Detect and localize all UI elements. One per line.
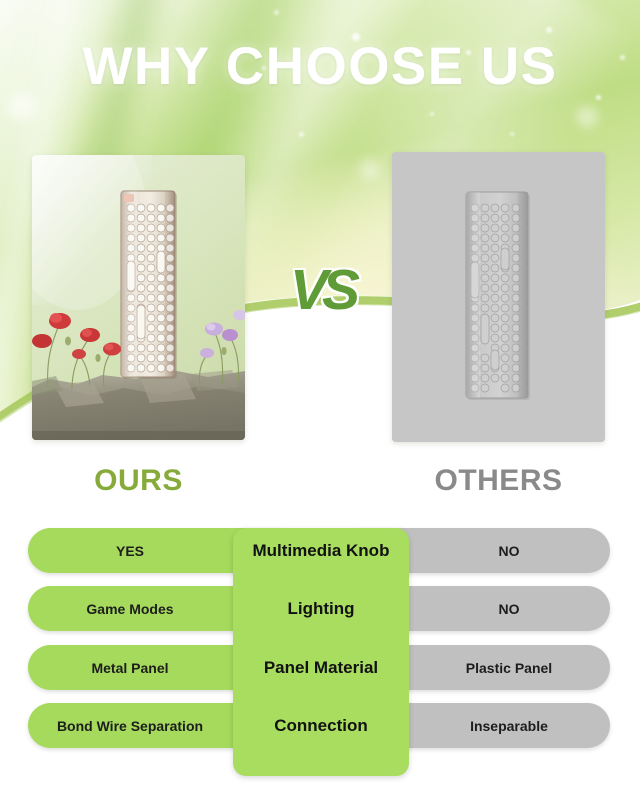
ours-product-photo: [32, 155, 245, 440]
others-value-text: Inseparable: [470, 718, 548, 734]
feature-label: Lighting: [233, 586, 409, 631]
others-value-text: NO: [499, 543, 520, 559]
others-product-illustration: [392, 152, 605, 442]
ours-value-text: Metal Panel: [91, 660, 168, 676]
ours-value-text: YES: [116, 543, 144, 559]
others-value-text: NO: [499, 601, 520, 617]
ours-value-text: Game Modes: [86, 601, 173, 617]
feature-label: Connection: [233, 703, 409, 748]
vs-badge: VS: [288, 258, 356, 322]
others-product-photo: [392, 152, 605, 442]
others-value-text: Plastic Panel: [466, 660, 552, 676]
comparison-table: YES Game Modes Metal Panel Bond Wire Sep…: [0, 528, 640, 778]
page-title: WHY CHOOSE US: [0, 36, 640, 98]
others-column-caption: OTHERS: [392, 462, 605, 500]
feature-label: Multimedia Knob: [233, 528, 409, 573]
ours-product-illustration: [32, 155, 245, 440]
feature-label: Panel Material: [233, 645, 409, 690]
feature-column-card: Multimedia Knob Lighting Panel Material …: [233, 528, 409, 776]
ours-column-caption: OURS: [32, 462, 245, 500]
ours-value-text: Bond Wire Separation: [57, 718, 203, 734]
